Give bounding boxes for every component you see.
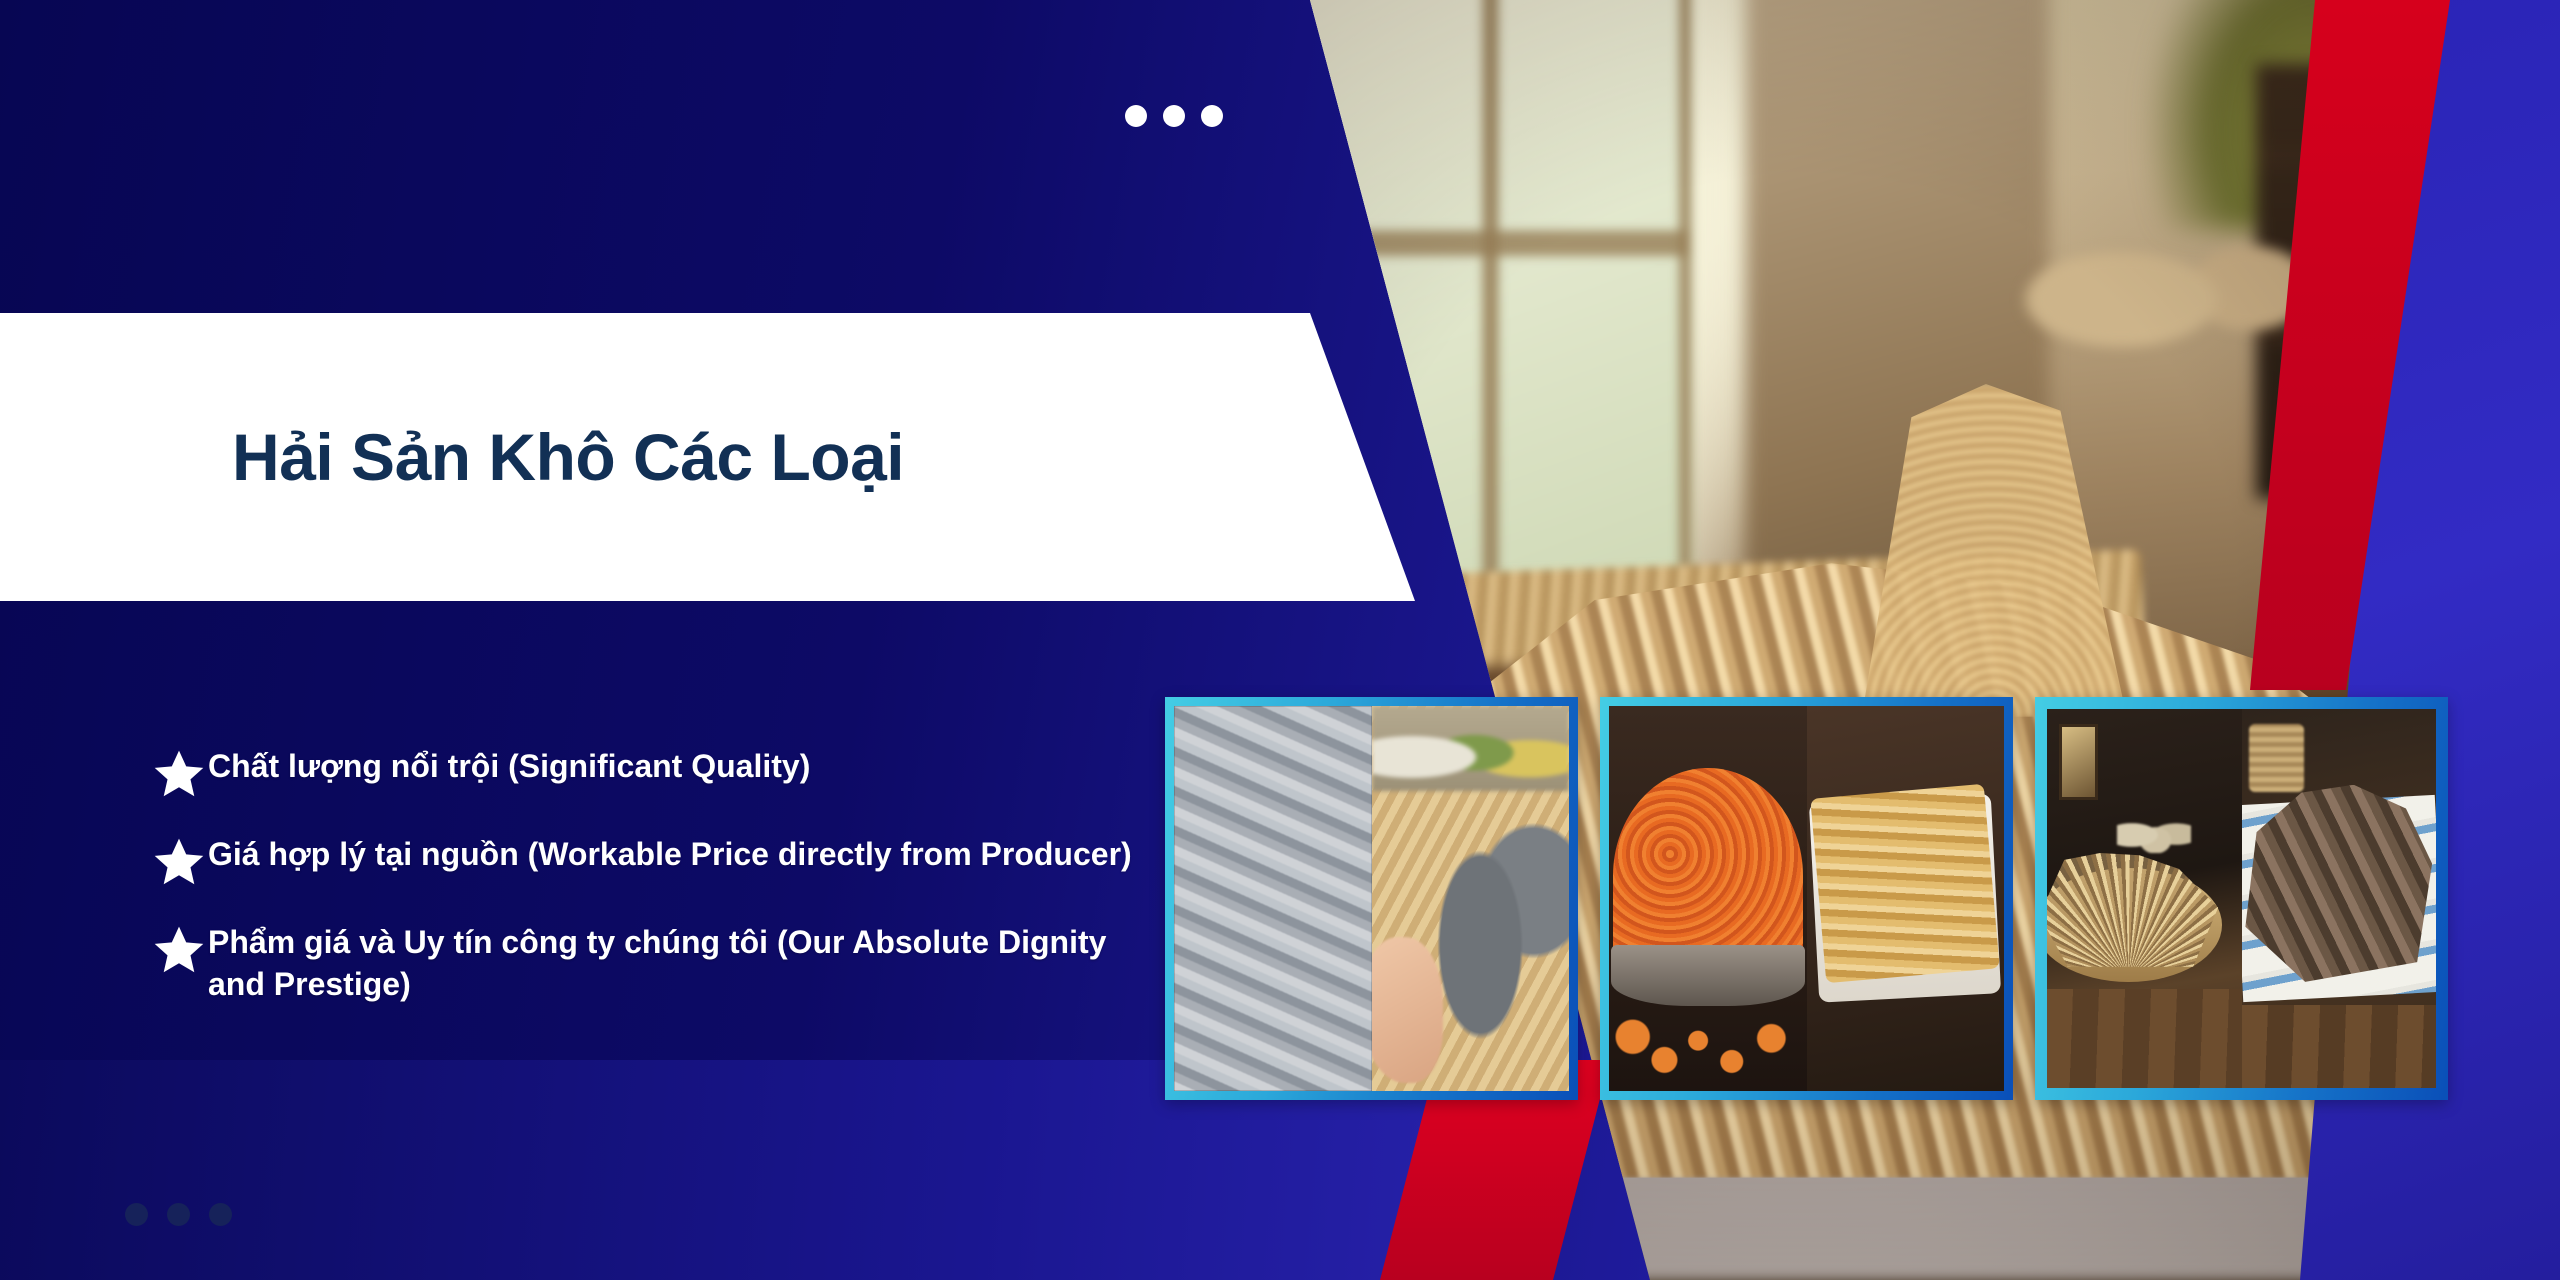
page-title: Hải Sản Khô Các Loại — [232, 419, 904, 495]
dot-icon — [167, 1203, 190, 1226]
dot-icon — [125, 1203, 148, 1226]
fresh-fish-right-half — [1372, 706, 1570, 1091]
dried-shrimp-image — [1609, 706, 1807, 1091]
thumbnail-inner — [1174, 706, 1569, 1091]
thumbnail-inner — [2047, 709, 2436, 1088]
dried-fish-thumbnail[interactable] — [2035, 697, 2448, 1100]
small-bowls — [2117, 808, 2191, 853]
loose-shrimp — [1609, 1006, 1807, 1083]
top-dots-decoration — [1125, 105, 1223, 127]
wooden-table — [2242, 1005, 2437, 1088]
dot-icon — [1201, 105, 1223, 127]
dried-fish-cloth-image — [2242, 709, 2437, 1088]
fresh-fish-thumbnail[interactable] — [1165, 697, 1578, 1100]
dried-shrimp-thumbnail[interactable] — [1600, 697, 2013, 1100]
list-item-label: Chất lượng nổi trội (Significant Quality… — [208, 745, 810, 787]
dried-fish-right-half — [2242, 709, 2437, 1088]
woven-basket — [2249, 724, 2303, 792]
list-item: Chất lượng nổi trội (Significant Quality… — [152, 745, 1152, 801]
dried-fish-left-half — [2047, 709, 2242, 1088]
list-item-label: Giá hợp lý tại nguồn (Workable Price dir… — [208, 833, 1132, 875]
metal-bowl — [1611, 945, 1805, 1007]
title-band: Hải Sản Khô Các Loại — [0, 313, 1420, 601]
list-item: Giá hợp lý tại nguồn (Workable Price dir… — [152, 833, 1152, 889]
star-icon — [152, 923, 206, 977]
list-item-label: Phẩm giá và Uy tín công ty chúng tôi (Ou… — [208, 921, 1152, 1005]
thumbnail-inner — [1609, 706, 2004, 1091]
fish-pile-image — [1174, 706, 1372, 1091]
fish-basket-image — [1372, 706, 1570, 1091]
fresh-fish-left-half — [1174, 706, 1372, 1091]
list-item: Phẩm giá và Uy tín công ty chúng tôi (Ou… — [152, 921, 1152, 1005]
dot-icon — [209, 1203, 232, 1226]
wooden-table — [2047, 989, 2242, 1088]
dot-icon — [1163, 105, 1185, 127]
dried-squid-right-half — [1807, 706, 2005, 1091]
market-stall-background — [1372, 706, 1570, 791]
dried-fish-fan-image — [2047, 709, 2242, 1088]
star-icon — [152, 835, 206, 889]
bottom-dots-decoration — [125, 1203, 232, 1226]
dot-icon — [1125, 105, 1147, 127]
slide-root: Hải Sản Khô Các Loại Chất lượng nổi trội… — [0, 0, 2560, 1280]
feature-list: Chất lượng nổi trội (Significant Quality… — [152, 745, 1152, 1005]
dried-squid-strips-image — [1807, 706, 2005, 1091]
star-icon — [152, 747, 206, 801]
squid-strips — [1811, 783, 2000, 982]
picture-frame — [2059, 724, 2098, 800]
thumbnail-gallery — [1165, 697, 2448, 1100]
dried-shrimp-left-half — [1609, 706, 1807, 1091]
